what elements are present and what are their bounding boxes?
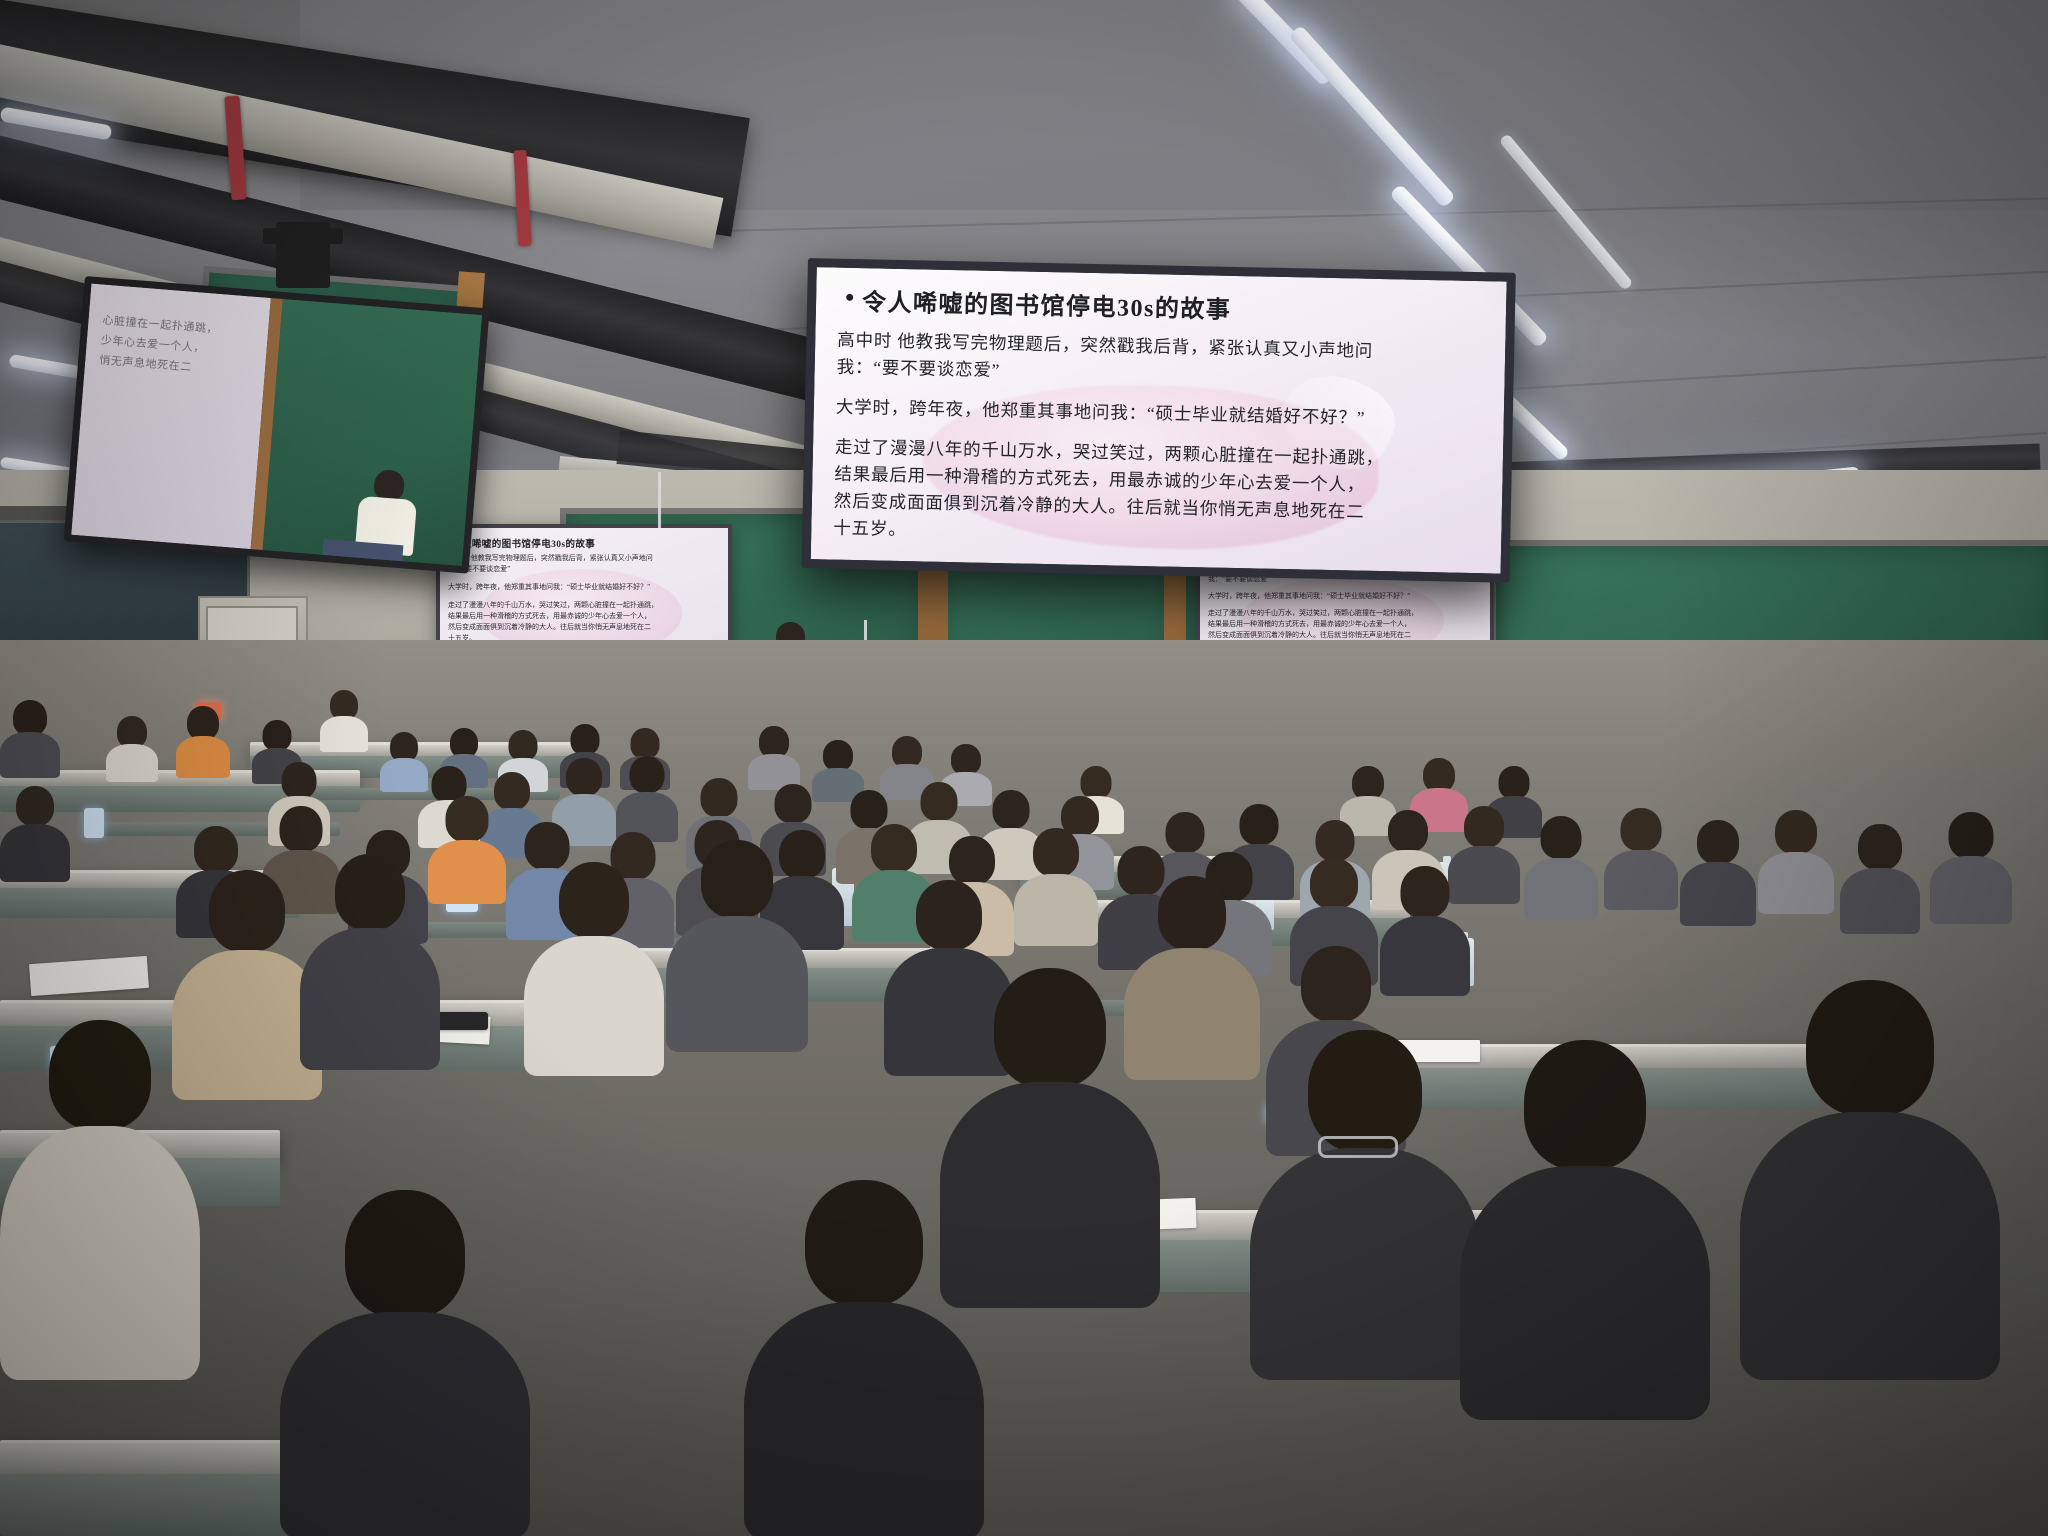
main-lcd-display: 令人唏嘘的图书馆停电30s的故事 高中时 他教我写完物理题后，突然戳我后背，紧张… [802, 258, 1516, 583]
left-projection-line: 高中时 他教我写完物理题后，突然戳我后背，紧张认真又小声地问 [448, 553, 722, 564]
ceiling-mounted-monitor: 心脏撞在一起扑通跳， 少年心去爱一个人， 悄无声息地死在二 [64, 276, 490, 574]
audience-member [616, 756, 678, 842]
audience-member [524, 862, 664, 1076]
left-projection-title: 人唏嘘的图书馆停电30s的故事 [448, 536, 722, 550]
phone-screen [84, 808, 104, 838]
main-slide: 令人唏嘘的图书馆停电30s的故事 高中时 他教我写完物理题后，突然戳我后背，紧张… [811, 267, 1507, 573]
microphone-cable [658, 472, 661, 528]
audience-member-foreground [1740, 980, 2000, 1380]
left-projection-line: 走过了漫漫八年的千山万水，哭过笑过，两颗心脏撞在一起扑通跳， [448, 600, 722, 611]
phone-on-desk [432, 1012, 488, 1030]
right-projection-line: 走过了漫漫八年的千山万水，哭过笑过，两颗心脏撞在一起扑通跳， [1208, 608, 1484, 619]
audience-member [748, 726, 800, 790]
monitor-ceiling-mount [276, 222, 330, 288]
audience-member [0, 700, 60, 778]
audience-member [1524, 816, 1598, 920]
left-projection-line: 然后变成面面俱到沉着冷静的大人。往后就当你悄无声息地死在二 [448, 622, 722, 633]
audience-member [666, 840, 808, 1052]
audience-member [1680, 820, 1756, 926]
audience-member-foreground [280, 1190, 530, 1536]
monitor-chalkboard-view [251, 298, 482, 566]
eyeglasses-icon [1318, 1136, 1398, 1158]
audience-member [1604, 808, 1678, 910]
left-projection-line: 大学时，跨年夜，他郑重其事地问我：“硕士毕业就结婚好不好？” [448, 582, 722, 593]
audience-member-foreground [1460, 1040, 1710, 1420]
audience-member-foreground [0, 1020, 200, 1380]
student-desk-row [0, 1440, 300, 1477]
right-projection-line: 结果最后用一种滑稽的方式死去，用最赤诚的少年心去爱一个人， [1208, 619, 1484, 630]
audience-member [0, 786, 70, 882]
monitor-slide-area: 心脏撞在一起扑通跳， 少年心去爱一个人， 悄无声息地死在二 [71, 284, 271, 550]
lecture-hall-photo: 人唏嘘的图书馆停电30s的故事 高中时 他教我写完物理题后，突然戳我后背，紧张认… [0, 0, 2048, 1536]
audience-member [300, 854, 440, 1070]
audience-member [1014, 828, 1098, 946]
audience-member [1930, 812, 2012, 924]
audience-member-foreground [744, 1180, 984, 1536]
audience-member [176, 706, 230, 778]
audience-member [1840, 824, 1920, 934]
audience-member [1758, 810, 1834, 914]
audience-member [320, 690, 368, 752]
left-projection-line: 结果最后用一种滑稽的方式死去，用最赤诚的少年心去爱一个人， [448, 611, 722, 622]
slide-title: 令人唏嘘的图书馆停电30s的故事 [838, 282, 1491, 331]
audience-member [106, 716, 158, 782]
left-projection-line: 我：“要不要谈恋爱” [448, 564, 722, 575]
desk-front-panel [0, 1474, 300, 1536]
audience-member-foreground [1250, 1030, 1480, 1380]
right-projection-line: 大学时，跨年夜，他郑重其事地问我：“硕士毕业就结婚好不好？” [1208, 591, 1484, 602]
